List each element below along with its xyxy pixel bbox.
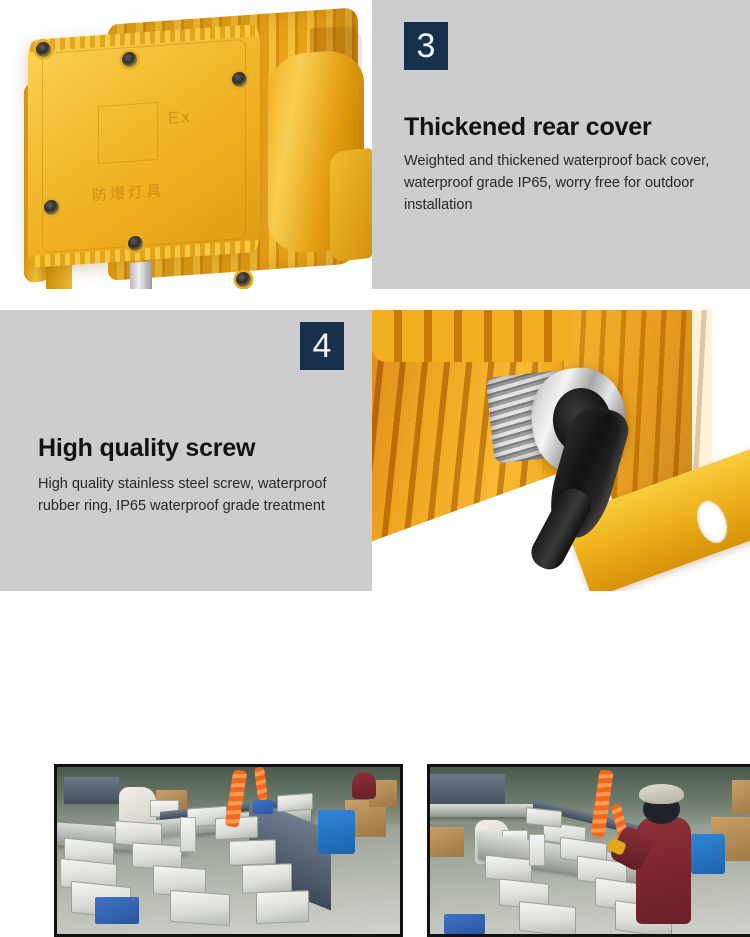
blue-tool-box (253, 800, 274, 813)
feature-description-3: Weighted and thickened waterproof back c… (404, 150, 734, 216)
feature-title-4: High quality screw (38, 434, 255, 463)
feature-4-image (372, 310, 750, 591)
background-shelf (64, 777, 119, 804)
factory-photo-right (427, 764, 750, 937)
worker-cap (639, 784, 684, 804)
blue-stool (318, 810, 356, 853)
embossed-mark-primary: Ex (168, 107, 192, 129)
worker-assembly-scene (430, 767, 750, 934)
feature-section-3: Ex 防爆灯具 3 Thickened rear cover Weighted … (0, 0, 750, 289)
cover-screw (128, 236, 143, 251)
cover-screw (232, 72, 247, 87)
metal-stem (130, 261, 152, 289)
blue-tool-box (444, 914, 485, 934)
housing-top-tabs (372, 310, 572, 362)
mounting-yoke (330, 148, 372, 262)
feature-4-text-panel: 4 High quality screw High quality stainl… (0, 310, 372, 591)
led-panel (242, 863, 292, 893)
cable-gland-illustration (372, 310, 750, 591)
control-unit (529, 834, 545, 866)
carton-box (430, 827, 464, 857)
embossed-label-box (98, 102, 158, 164)
feature-description-4: High quality stainless steel screw, wate… (38, 473, 358, 517)
floodlight-rear-cover-illustration: Ex 防爆灯具 (0, 0, 372, 289)
cover-screw (122, 52, 137, 67)
feature-number-badge-3: 3 (404, 22, 448, 70)
led-panel (519, 901, 576, 934)
led-panel (526, 807, 562, 828)
led-panel (256, 890, 309, 924)
cover-screw (36, 42, 51, 57)
feature-section-4: 4 High quality screw High quality stainl… (0, 310, 750, 591)
factory-photo-left (54, 764, 403, 937)
cover-screw (44, 200, 59, 215)
feature-title-3: Thickened rear cover (404, 113, 652, 142)
led-panel (277, 792, 313, 812)
background-worker (352, 772, 376, 799)
control-unit (180, 817, 196, 852)
assembly-line-scene (57, 767, 400, 934)
feature-3-text-panel: 3 Thickened rear cover Weighted and thic… (372, 0, 750, 289)
carton-box (732, 780, 750, 813)
led-panel (229, 840, 276, 867)
background-shelf (430, 774, 505, 807)
product-feature-page: Ex 防爆灯具 3 Thickened rear cover Weighted … (0, 0, 750, 921)
feature-3-image: Ex 防爆灯具 (0, 0, 372, 289)
factory-gallery (0, 748, 750, 921)
blue-stool (691, 834, 725, 874)
background-bench (430, 804, 533, 817)
blue-tool-box (95, 897, 140, 924)
cover-screw (236, 272, 251, 287)
feature-number-badge-4: 4 (300, 322, 344, 370)
